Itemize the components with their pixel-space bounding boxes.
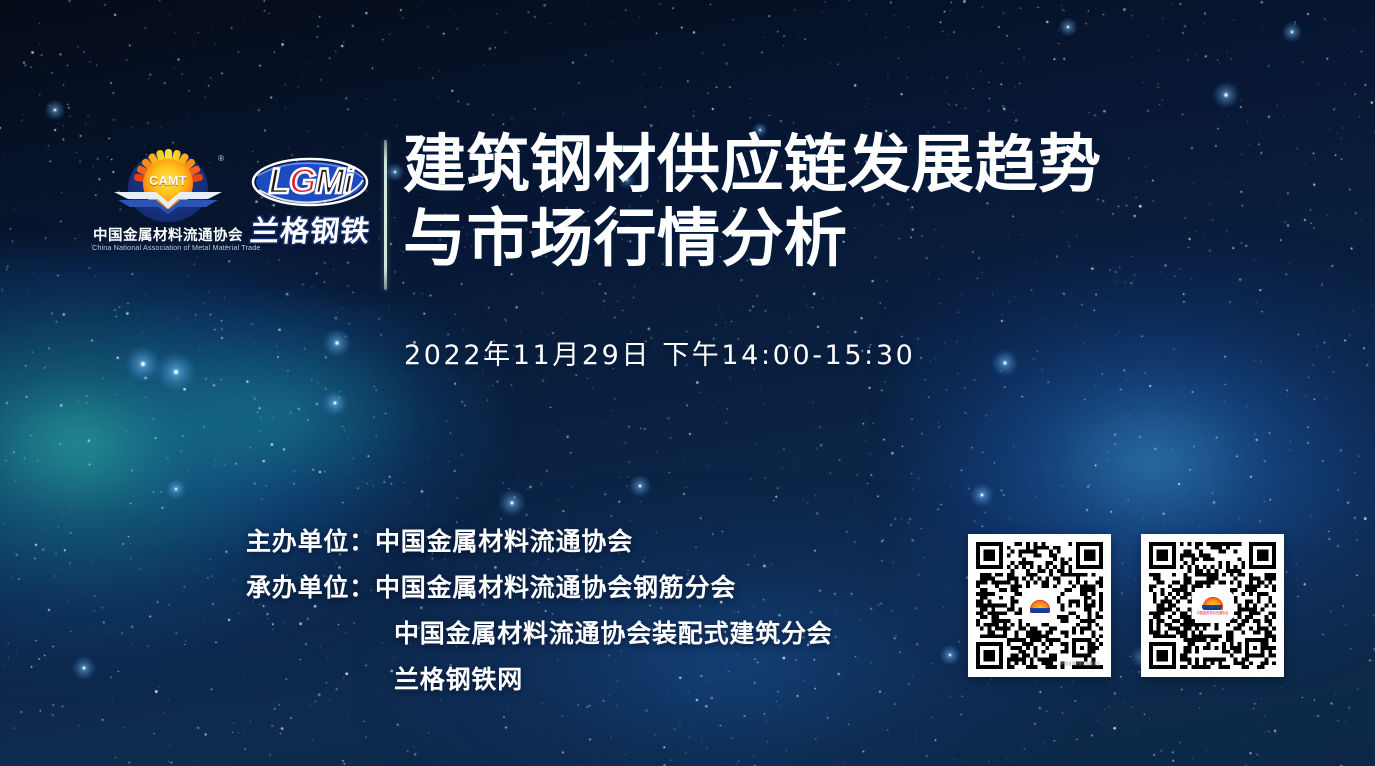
event-datetime: 2022年11月29日 下午14:00-15:30: [404, 333, 1104, 372]
organizer-block: 主办单位：中国金属材料流通协会 承办单位：中国金属材料流通协会钢筋分会 中国金属…: [246, 519, 1006, 703]
lgmi-letter-g: G: [289, 162, 315, 201]
event-poster: CAMT ® 中国金属材料流通协会 China National Associa…: [0, 0, 1375, 766]
camt-name-en: China National Association of Metal Mate…: [92, 243, 244, 252]
qr-watermark: 中国金属材料流通协会: [1060, 661, 1100, 667]
camt-wing-icon: [112, 188, 224, 214]
organizer-line-coorg-1: 承办单位：中国金属材料流通协会钢筋分会: [246, 565, 1006, 611]
organizer-line-coorg-3: 兰格钢铁网: [246, 657, 1006, 703]
lgmi-name-cn: 兰格钢铁: [241, 208, 380, 250]
camt-name-cn: 中国金属材料流通协会: [92, 224, 244, 245]
logo-row: CAMT ® 中国金属材料流通协会 China National Associa…: [88, 148, 378, 268]
qr-code-camt[interactable]: 中国金属材料流通协会: [968, 534, 1111, 677]
page-title: 建筑钢材供应链发展趋势 与市场行情分析: [403, 128, 1233, 276]
lgmi-letter-l: L: [269, 162, 289, 201]
qr-center-logo-wide-icon: 中国金属材料流通协会: [1194, 593, 1232, 619]
qr-center-logo-icon: [1027, 593, 1053, 619]
organizer-line-coorg-2: 中国金属材料流通协会装配式建筑分会: [246, 611, 1006, 657]
camt-logo: CAMT ® 中国金属材料流通协会 China National Associa…: [92, 148, 244, 268]
title-line-2: 与市场行情分析: [403, 202, 1233, 276]
qr-code-camt-wide[interactable]: 中国金属材料流通协会: [1141, 534, 1284, 677]
lgmi-letter-i: i: [344, 162, 353, 201]
organizer-line-host: 主办单位：中国金属材料流通协会: [246, 519, 1006, 565]
lgmi-letter-m: M: [315, 162, 343, 201]
camt-mark-text: CAMT: [143, 174, 193, 188]
lgmi-logo: LGMi 兰格钢铁: [243, 152, 378, 264]
registered-mark-icon: ®: [218, 154, 224, 163]
camt-emblem-icon: CAMT ®: [114, 148, 222, 222]
qr-logo-caption: 中国金属材料流通协会: [1197, 610, 1229, 615]
title-divider-line: [384, 140, 387, 290]
lgmi-wordmark: LGMi: [243, 158, 378, 206]
title-line-1: 建筑钢材供应链发展趋势: [403, 128, 1233, 202]
